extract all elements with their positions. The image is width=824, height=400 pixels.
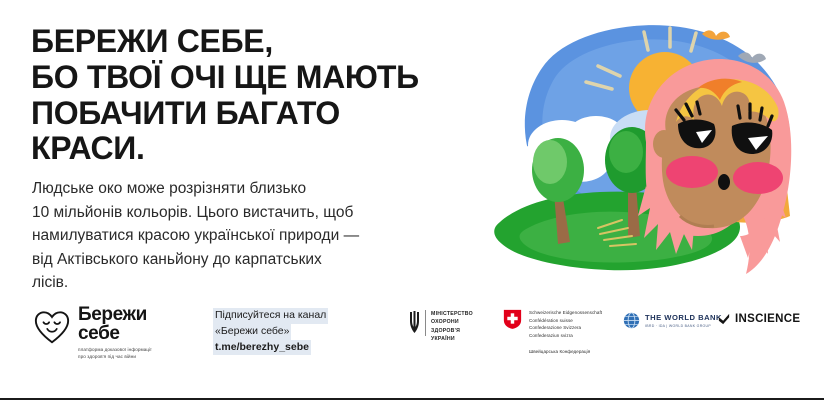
- campaign-poster: БЕРЕЖИ СЕБЕ, БО ТВОЇ ОЧІ ЩЕ МАЮТЬ ПОБАЧИ…: [0, 0, 824, 400]
- page-title: БЕРЕЖИ СЕБЕ, БО ТВОЇ ОЧІ ЩЕ МАЮТЬ ПОБАЧИ…: [31, 24, 501, 167]
- inscience-name: INSCIENCE: [735, 313, 800, 325]
- ministry-line-4: УКРАЇНИ: [431, 335, 473, 343]
- girl-with-nature-landscape-illustration: [480, 10, 824, 295]
- ministry-of-health-logo: МІНІСТЕРСТВО ОХОРОНИ ЗДОРОВ'Я УКРАЇНИ: [409, 310, 473, 344]
- headline-line-2: БО ТВОЇ ОЧІ ЩЕ МАЮТЬ: [31, 60, 501, 96]
- ministry-line-1: МІНІСТЕРСТВО: [431, 310, 473, 318]
- brand-word-2: себе: [78, 325, 152, 344]
- swiss-cross-shield-icon: [503, 309, 522, 330]
- body-paragraph: Людське око може розрізняти близько 10 м…: [32, 177, 462, 295]
- headline-line-3: ПОБАЧИТИ БАГАТО: [31, 96, 501, 132]
- heart-smile-icon: [33, 308, 71, 346]
- ukraine-trident-icon: [409, 310, 420, 336]
- headline-line-1: БЕРЕЖИ СЕБЕ,: [31, 24, 501, 60]
- telegram-cta[interactable]: Підписуйтеся на канал «Бережи себе» t.me…: [213, 308, 328, 355]
- swiss-name-it: Confederazione Svizzera: [529, 324, 602, 332]
- swiss-name-fr: Confédération suisse: [529, 317, 602, 325]
- tree-crown-left-highlight: [533, 140, 567, 184]
- world-bank-text: THE WORLD BANK IBRD · IDA | WORLD BANK G…: [645, 313, 722, 328]
- telegram-line-2: «Бережи себе»: [213, 324, 291, 340]
- tree-crown-right-highlight: [609, 131, 643, 173]
- body-line-1: Людське око може розрізняти близько: [32, 177, 462, 201]
- swiss-names-block: Schweizerische Eidgenossenschaft Confédé…: [529, 309, 602, 354]
- swiss-confederation-logo: Schweizerische Eidgenossenschaft Confédé…: [503, 309, 602, 354]
- swiss-names: Schweizerische Eidgenossenschaft Confédé…: [529, 309, 602, 340]
- world-bank-subtitle: IBRD · IDA | WORLD BANK GROUP: [645, 324, 722, 328]
- brand-word-1: Бережи: [78, 306, 152, 325]
- blush-left: [666, 156, 718, 188]
- ministry-line-2: ОХОРОНИ: [431, 318, 473, 326]
- body-line-4: від Актівського каньйону до карпатських: [32, 248, 462, 272]
- ministry-line-3: ЗДОРОВ'Я: [431, 327, 473, 335]
- ministry-name: МІНІСТЕРСТВО ОХОРОНИ ЗДОРОВ'Я УКРАЇНИ: [431, 310, 473, 344]
- brand-tagline: платформа доказової інформації про здоро…: [78, 347, 152, 360]
- body-line-5: лісів.: [32, 271, 462, 295]
- swiss-name-ukrainian: Швейцарська Конфедерація: [529, 349, 602, 354]
- globe-icon: [623, 312, 640, 329]
- blush-right: [733, 162, 783, 194]
- world-bank-logo: THE WORLD BANK IBRD · IDA | WORLD BANK G…: [623, 312, 722, 329]
- body-line-2: 10 мільйонів кольорів. Цього вистачить, …: [32, 201, 462, 225]
- telegram-handle-link[interactable]: t.me/berezhy_sebe: [213, 340, 311, 356]
- inscience-mark-icon: [718, 313, 730, 325]
- ministry-divider: [425, 310, 426, 336]
- brand-lockup: Бережи себе платформа доказової інформац…: [33, 306, 152, 360]
- brand-wordmark: Бережи себе платформа доказової інформац…: [78, 306, 152, 360]
- swiss-name-de: Schweizerische Eidgenossenschaft: [529, 309, 602, 317]
- headline-line-4: КРАСИ.: [31, 131, 501, 167]
- world-bank-name: THE WORLD BANK: [645, 313, 722, 322]
- body-line-3: намилуватися красою української природи …: [32, 224, 462, 248]
- ear: [653, 130, 675, 158]
- brand-tagline-line-2: про здоров'я під час війни: [78, 354, 152, 361]
- swiss-name-rm: Confederaziun svizra: [529, 332, 602, 340]
- telegram-line-1: Підписуйтеся на канал: [213, 308, 328, 324]
- inscience-logo: INSCIENCE: [718, 313, 800, 325]
- brand-tagline-line-1: платформа доказової інформації: [78, 347, 152, 354]
- mouth: [718, 174, 730, 190]
- footer-logo-bar: Бережи себе платформа доказової інформац…: [0, 296, 824, 376]
